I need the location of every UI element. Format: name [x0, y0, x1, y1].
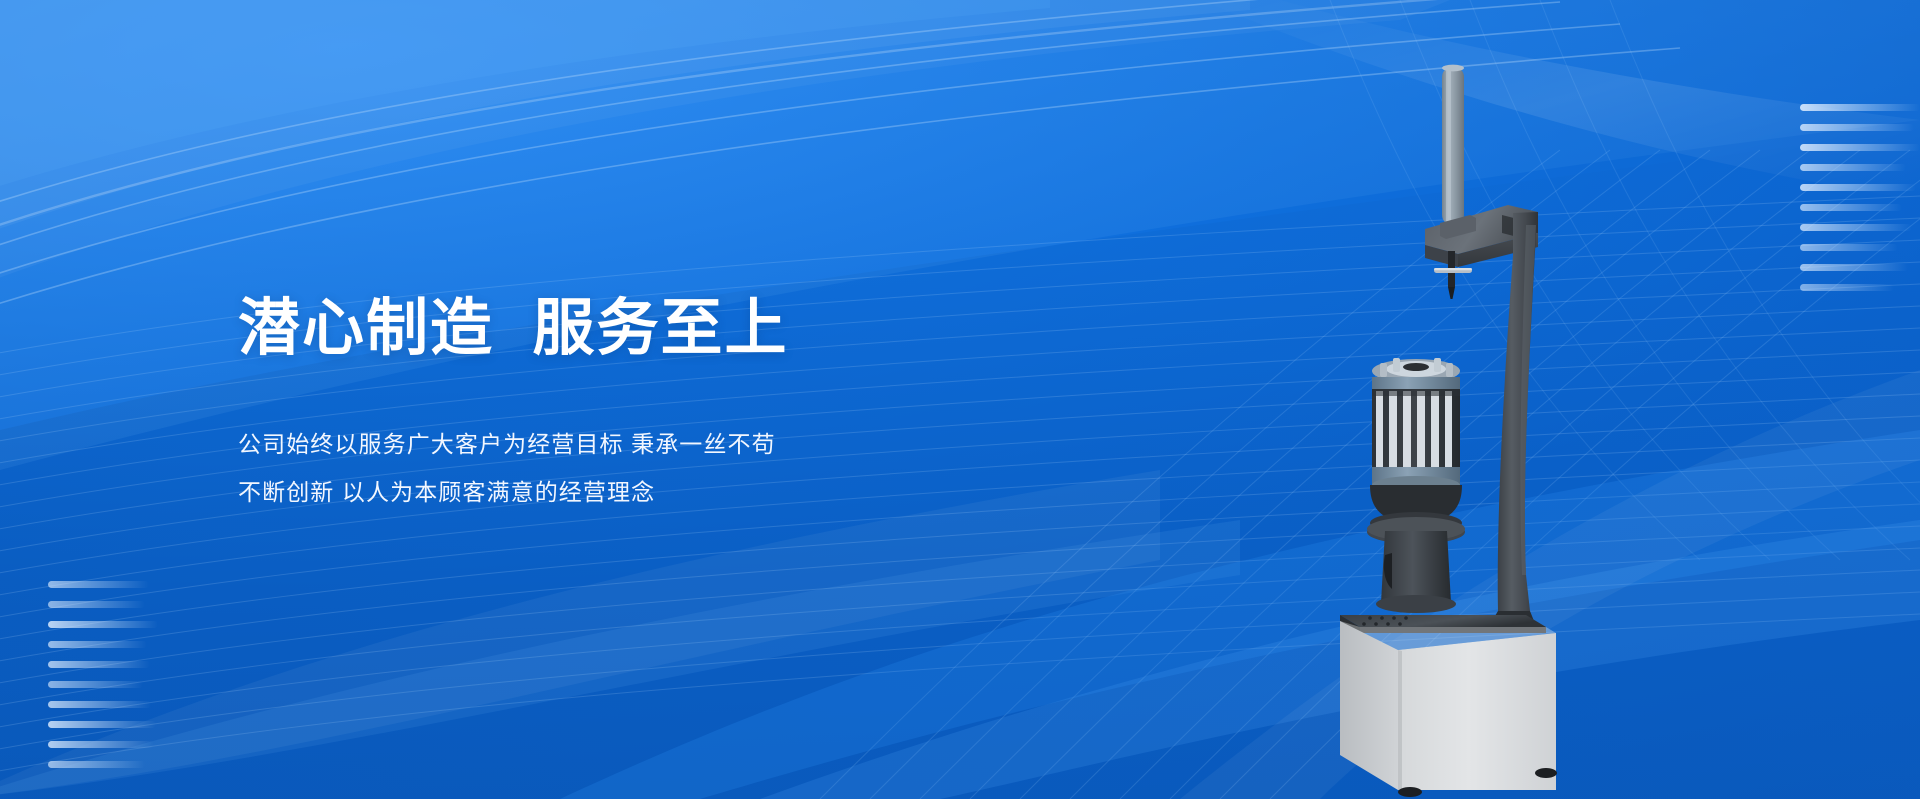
decor-bar [1800, 124, 1914, 131]
decor-bar [48, 701, 151, 708]
cabinet-enclosure [1340, 621, 1556, 790]
banner-headline: 潜心制造 服务至上 [238, 296, 998, 363]
industrial-press-machine [1330, 55, 1630, 799]
decor-bar [1800, 104, 1920, 111]
horizontal-bar-stack-left [48, 581, 158, 781]
horizontal-bar-stack-right [1800, 104, 1920, 304]
banner-subtitle-line-2: 不断创新 以人为本顾客满意的经营理念 [238, 481, 998, 504]
decor-bar [1800, 204, 1902, 211]
decor-bar [1800, 224, 1912, 231]
tapered-support-column [1492, 212, 1538, 621]
decor-bar [48, 581, 149, 588]
decor-bar [1800, 264, 1908, 271]
decor-bar [48, 741, 154, 748]
hero-banner: 潜心制造 服务至上 公司始终以服务广大客户为经营目标 秉承一丝不苟 不断创新 以… [0, 0, 1920, 799]
slotted-cylinder-assembly [1367, 358, 1465, 544]
decor-bar [48, 601, 145, 608]
decor-bar [48, 641, 147, 648]
decor-bar [48, 721, 156, 728]
banner-copy: 潜心制造 服务至上 公司始终以服务广大客户为经营目标 秉承一丝不苟 不断创新 以… [238, 296, 998, 504]
machine-hub [1376, 531, 1456, 613]
decor-bar [1800, 164, 1906, 171]
decor-bar [48, 681, 143, 688]
decor-bar [48, 661, 150, 668]
decor-bar [1800, 244, 1898, 251]
decor-bar [1800, 284, 1894, 291]
decor-bar [48, 761, 145, 768]
decor-bar [1800, 144, 1920, 151]
vertical-guide-rod [1442, 65, 1464, 225]
decor-bar [48, 621, 158, 628]
decor-bar [1800, 184, 1916, 191]
banner-subtitle-line-1: 公司始终以服务广大客户为经营目标 秉承一丝不苟 [238, 433, 998, 456]
